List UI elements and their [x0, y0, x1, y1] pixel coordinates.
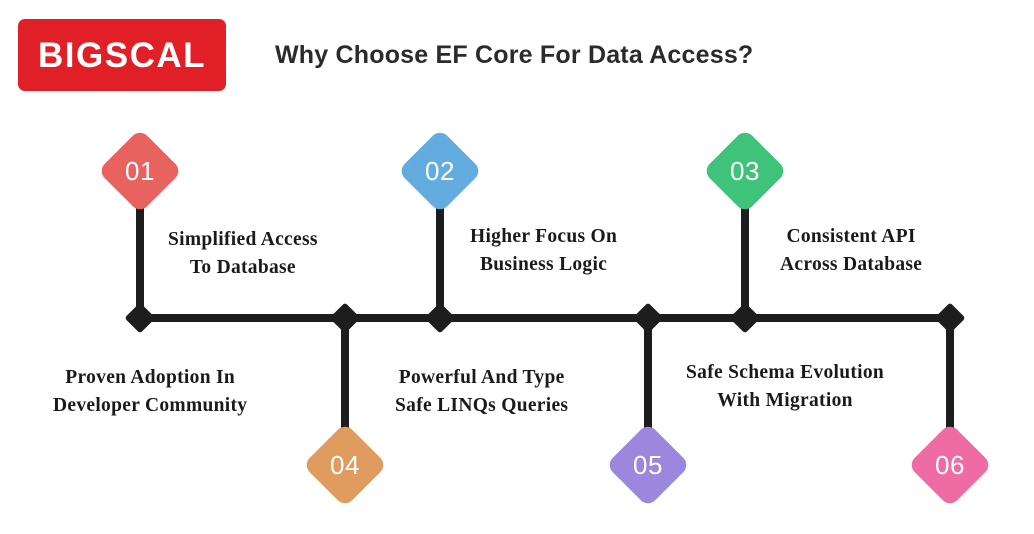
connector-stem-04 [341, 318, 349, 443]
connector-stem-05 [644, 318, 652, 443]
bigscal-logo: BIGSCAL [18, 19, 226, 91]
connector-stem-01 [136, 193, 144, 318]
logo-wordmark: BIGSCAL [38, 38, 206, 73]
step-label-03: Consistent API Across Database [780, 223, 922, 278]
step-number-05: 05 [613, 452, 683, 478]
step-label-04: Powerful And Type Safe LINQs Queries [395, 364, 568, 419]
connector-stem-03 [741, 193, 749, 318]
step-label-02: Higher Focus On Business Logic [470, 223, 617, 278]
connector-stem-02 [436, 193, 444, 318]
step-number-04: 04 [310, 452, 380, 478]
step-label-06: Proven Adoption In Developer Community [53, 364, 247, 419]
step-number-06: 06 [915, 452, 985, 478]
step-number-03: 03 [710, 158, 780, 184]
infographic-canvas: BIGSCAL Why Choose EF Core For Data Acce… [0, 0, 1034, 534]
step-label-05: Safe Schema Evolution With Migration [686, 359, 884, 414]
timeline-rail [138, 314, 952, 322]
step-number-02: 02 [405, 158, 475, 184]
step-label-01: Simplified Access To Database [168, 226, 318, 281]
step-number-01: 01 [105, 158, 175, 184]
connector-stem-06 [946, 318, 954, 443]
page-title: Why Choose EF Core For Data Access? [275, 41, 753, 70]
